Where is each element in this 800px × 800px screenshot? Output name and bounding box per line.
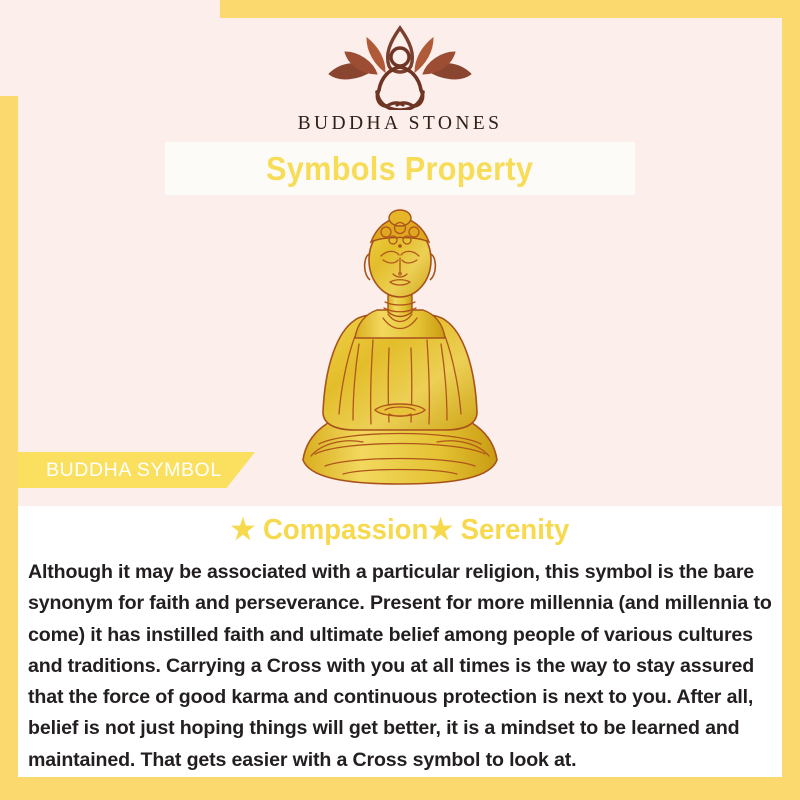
title-banner: Symbols Property bbox=[165, 142, 635, 195]
content-paragraph: Although it may be associated with a par… bbox=[28, 557, 776, 776]
frame-band-bottom bbox=[0, 777, 800, 800]
brand-logo: BUDDHA STONES bbox=[0, 22, 800, 135]
lotus-meditation-figure-icon bbox=[315, 22, 485, 110]
frame-band-left bbox=[0, 96, 18, 800]
page-title: Symbols Property bbox=[266, 150, 533, 188]
buddha-symbol-tag-label: BUDDHA SYMBOL bbox=[46, 459, 222, 482]
content-subtitle: ★ Compassion★ Serenity bbox=[20, 512, 780, 547]
frame-band-top bbox=[220, 0, 800, 18]
buddha-statue-image bbox=[285, 198, 515, 498]
promo-page: BUDDHA STONES Symbols Property bbox=[0, 0, 800, 800]
brand-name: BUDDHA STONES bbox=[0, 113, 800, 135]
buddha-symbol-tag: BUDDHA SYMBOL bbox=[18, 452, 255, 488]
buddha-statue-icon bbox=[285, 198, 515, 498]
frame-band-right bbox=[782, 0, 800, 800]
